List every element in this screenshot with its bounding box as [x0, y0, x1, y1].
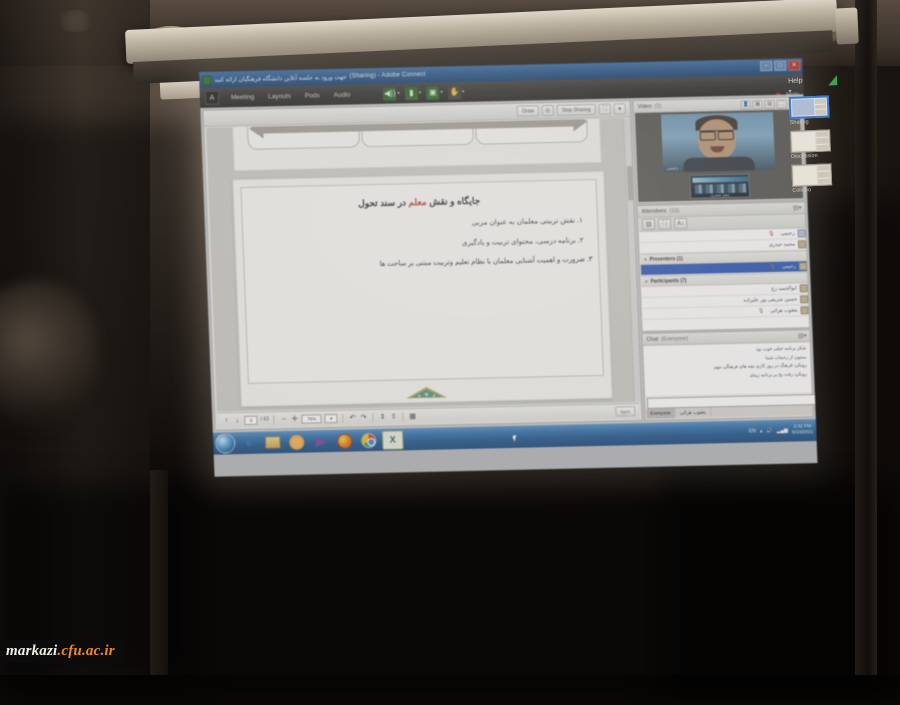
fit-width-icon[interactable]: ⇕ — [379, 412, 387, 422]
participant-icon — [800, 284, 808, 292]
attendees-pod: Attendees (10) ▤▾ ▤ ⛶ A↓ — [636, 201, 810, 332]
previous-slide-fragment — [231, 118, 602, 171]
wall-post-left — [150, 470, 168, 675]
volume-icon[interactable]: 🔊 — [766, 428, 772, 434]
media-player-icon[interactable] — [286, 432, 308, 451]
windows-start-orb-icon[interactable] — [215, 433, 236, 453]
host-icon — [798, 240, 806, 248]
undo-icon[interactable]: ↶ — [349, 412, 357, 422]
pointer-icon[interactable]: ◎ — [542, 105, 554, 116]
system-tray[interactable]: EN ▴ 🔊 ▂▄▆ 2:32 PM 5/23/2021 — [749, 424, 817, 437]
microphone-icon[interactable]: ▮ — [405, 87, 418, 100]
attendee-name: رحیمی — [780, 231, 794, 237]
layout-item-discussion[interactable]: Discussion — [790, 129, 849, 160]
breakout-rooms-icon[interactable]: ⛶ — [658, 218, 671, 229]
chevron-down-icon[interactable]: ▾ — [644, 257, 646, 262]
webcam-name-label: رحیمی — [667, 165, 678, 170]
slide-title-part2: در سند تحول — [358, 197, 409, 208]
arrow-up-icon[interactable]: ↑ — [222, 415, 230, 425]
document-viewport[interactable]: جایگاه و نقش معلم در سند تحول ۱. نقش ترب… — [206, 118, 639, 411]
layout-label: Sharing — [790, 118, 848, 126]
attendee-view-icon[interactable]: ▤ — [642, 219, 655, 230]
green-triangle-icon — [828, 75, 837, 85]
adobe-connect-window: جهت ورود به جلسه آنلاین دانشگاه فرهنگیان… — [199, 58, 817, 454]
fullscreen-icon[interactable]: ⛶ — [599, 104, 611, 115]
chat-pod-scope: (Everyone) — [661, 335, 688, 342]
pod-menu-icon[interactable]: ▤▾ — [798, 332, 807, 339]
sync-button[interactable]: Sync — [615, 406, 635, 416]
slide-bullet: ۲. برنامه درسی، محتوای تربیت و یادگیری — [462, 235, 598, 247]
adobe-connect-icon — [202, 75, 211, 84]
zoom-value[interactable]: 75% — [302, 414, 322, 423]
clock[interactable]: 2:32 PM 5/23/2021 — [792, 424, 814, 436]
mic-status-icon: 🎙 — [758, 308, 765, 314]
window-title-fa: جهت ورود به جلسه آنلاین دانشگاه فرهنگیان… — [214, 73, 347, 83]
close-button[interactable]: ✕ — [788, 60, 800, 70]
slide-bullet: ۱. نقش تربیتی معلمان به عنوان مربی — [471, 215, 597, 227]
video-pod-count: (2) — [655, 103, 662, 109]
attendee-options-icon[interactable]: A↓ — [674, 218, 687, 229]
attendee-name: یعقوب هراتی — [770, 307, 798, 314]
arrow-down-icon[interactable]: ↓ — [233, 415, 241, 425]
layout-thumbnail-collaboration — [791, 163, 832, 187]
layout-label: Discussion — [791, 152, 849, 160]
language-indicator[interactable]: EN — [749, 428, 756, 434]
avatar-glasses — [700, 130, 734, 138]
microphone-caret-icon[interactable]: ▾ — [419, 90, 422, 96]
attendee-group-label: Participants (7) — [650, 277, 686, 284]
window-title-en: (Sharing) - Adobe Connect — [349, 72, 425, 80]
minus-icon[interactable]: − — [280, 414, 288, 424]
webcam-name-label: معلم جعفری — [691, 193, 749, 198]
watermark: markazi.cfu.ac.ir — [0, 640, 124, 663]
webcam-feed-secondary[interactable]: معلم جعفری — [689, 174, 750, 199]
watermark-primary: markazi — [6, 643, 57, 659]
layout-rail: Help ▾ Sharing Discussion Collabo — [788, 76, 852, 238]
adobe-logo-icon: A — [205, 91, 220, 105]
redo-icon[interactable]: ↷ — [360, 412, 368, 422]
video-banner — [692, 177, 748, 183]
draw-button[interactable]: Draw — [517, 105, 539, 116]
attendees-pod-title: Attendees — [642, 208, 667, 215]
stop-sharing-button[interactable]: Stop Sharing — [557, 104, 596, 116]
minimize-button[interactable]: – — [760, 61, 772, 71]
right-pod-column: Video (2) 👤 ▦ ▤ ⛶ ▾ — [632, 96, 813, 421]
video-pod: Video (2) 👤 ▦ ▤ ⛶ ▾ — [632, 96, 805, 204]
layout-item-collaboration[interactable]: Collabo — [791, 163, 850, 194]
tray-caret-icon[interactable]: ▴ — [760, 428, 763, 434]
attendees-list[interactable]: رحیمی 🎙 محمد حیدری ▾ Presenters (1) — [639, 228, 809, 331]
conference-room-photo: جهت ورود به جلسه آنلاین دانشگاه فرهنگیان… — [0, 0, 900, 675]
chat-tab-everyone[interactable]: Everyone — [646, 408, 676, 419]
wall-shadow-bottom — [0, 485, 900, 705]
speaker-icon[interactable]: ◀)) — [383, 87, 396, 100]
zoom-dropdown-icon[interactable]: ▾ — [325, 413, 338, 422]
help-label[interactable]: Help — [788, 76, 846, 85]
share-pod: Draw ◎ Stop Sharing ⛶ ▾ آموزش نقش تربیتی… — [202, 100, 642, 430]
maximize-button[interactable]: □ — [774, 61, 786, 71]
attendee-group-label: Presenters (1) — [649, 256, 683, 263]
chat-pod-title: Chat — [646, 336, 658, 342]
divider — [274, 415, 275, 424]
plus-icon[interactable]: ✛ — [291, 414, 299, 424]
camera-icon[interactable]: ▣ — [426, 86, 439, 99]
clock-date: 5/23/2021 — [792, 430, 814, 435]
layout-menu-icon[interactable]: ▾ — [788, 86, 846, 95]
projection-screen-end-cap — [835, 8, 859, 45]
pod-menu-icon[interactable]: ▾ — [614, 103, 626, 114]
chat-pod: Chat (Everyone) ▤▾ شکر برنامه خیلی خوب ب… — [641, 329, 813, 421]
attendee-row[interactable]: یعقوب هراتی 🎙 — [642, 305, 808, 320]
filmstrip-view-icon[interactable]: ▤ — [764, 99, 774, 108]
layout-thumbnail-sharing — [789, 95, 830, 119]
pods-area: Draw ◎ Stop Sharing ⛶ ▾ آموزش نقش تربیتی… — [200, 94, 815, 432]
watermark-secondary: .cfu.ac.ir — [57, 643, 114, 659]
camera-caret-icon[interactable]: ▾ — [440, 89, 443, 95]
network-icon[interactable]: ▂▄▆ — [777, 428, 788, 434]
speaker-caret-icon[interactable]: ▾ — [397, 90, 400, 96]
file-explorer-icon[interactable] — [262, 433, 284, 452]
start-my-webcam-icon[interactable]: 👤 — [740, 100, 750, 109]
internet-explorer-icon[interactable]: e — [238, 433, 260, 452]
firefox-icon[interactable] — [334, 431, 356, 450]
layout-item-sharing[interactable]: Sharing — [789, 95, 848, 126]
thumbnails-icon[interactable]: ▦ — [409, 411, 417, 421]
current-slide: جایگاه و نقش معلم در سند تحول ۱. نقش ترب… — [232, 171, 613, 407]
window-controls[interactable]: – □ ✕ — [760, 60, 800, 71]
slide-title-part1: جایگاه و نقش — [426, 196, 480, 207]
scrollbar-thumb[interactable] — [627, 166, 633, 200]
participant-icon — [800, 295, 808, 303]
layout-label: Collabo — [792, 186, 850, 194]
chevron-down-icon[interactable]: ▾ — [645, 279, 647, 284]
page-number-input[interactable]: 3 — [244, 415, 257, 424]
attendee-name: حسین شریفی پور علیزاده — [743, 296, 797, 303]
fullscreen-icon[interactable]: ⛶ — [776, 99, 786, 108]
divider — [403, 412, 404, 421]
clock-time: 2:32 PM — [793, 424, 811, 429]
mic-status-icon: 🎙 — [769, 264, 776, 270]
av-controls[interactable]: ◀)) ▾ ▮ ▾ ▣ ▾ ✋ ▾ — [383, 85, 469, 100]
attendees-pod-count: (10) — [669, 208, 679, 214]
projection-screen: جهت ورود به جلسه آنلاین دانشگاه فرهنگیان… — [199, 58, 817, 476]
chat-messages[interactable]: شکر برنامه خیلی خوب بود ممنون از زحمات ش… — [644, 342, 812, 396]
layout-thumbnail-discussion — [790, 129, 831, 153]
chrome-icon[interactable] — [358, 430, 380, 449]
menu-item-meeting[interactable]: Meeting — [224, 93, 261, 101]
attendee-name: محمد حیدری — [769, 242, 796, 249]
slide-bullet: ۳. ضرورت و اهمیت آشنایی معلمان با نظام ت… — [379, 255, 598, 268]
video-feeds: رحیمی معلم جعفری — [635, 109, 803, 202]
slide-title-highlight: معلم — [408, 197, 427, 207]
avatar-body — [683, 156, 756, 172]
participant-icon — [800, 306, 808, 314]
slide-content: جایگاه و نقش معلم در سند تحول ۱. نقش ترب… — [240, 179, 604, 384]
attendee-name: رحیمی — [782, 263, 796, 269]
menu-item-layouts[interactable]: Layouts — [261, 92, 298, 100]
fit-page-icon[interactable]: ⇳ — [390, 412, 398, 422]
webcam-feed-main[interactable]: رحیمی — [661, 112, 775, 172]
video-pod-title: Video — [638, 103, 652, 109]
grid-view-icon[interactable]: ▦ — [752, 100, 762, 109]
page-total-label: / 43 — [260, 416, 269, 422]
raise-hand-icon[interactable]: ✋ — [448, 86, 461, 99]
excel-icon[interactable]: X — [382, 430, 404, 449]
wall-post-right — [855, 0, 877, 675]
divider — [343, 413, 344, 422]
menu-item-audio[interactable]: Audio — [327, 91, 358, 99]
slide-ornament-icon — [397, 386, 455, 400]
mic-status-icon: 🎙 — [768, 231, 775, 237]
video-player-icon[interactable]: ▶ — [310, 432, 332, 451]
attendee-name: ابوالحمید رج — [771, 285, 797, 292]
menu-item-pods[interactable]: Pods — [298, 92, 327, 100]
divider — [373, 413, 374, 422]
slide-title: جایگاه و نقش معلم در سند تحول — [358, 196, 481, 210]
status-caret-icon[interactable]: ▾ — [462, 89, 465, 95]
presenter-icon — [799, 262, 807, 270]
chat-tab-private[interactable]: یعقوب هراتی — [676, 407, 712, 418]
